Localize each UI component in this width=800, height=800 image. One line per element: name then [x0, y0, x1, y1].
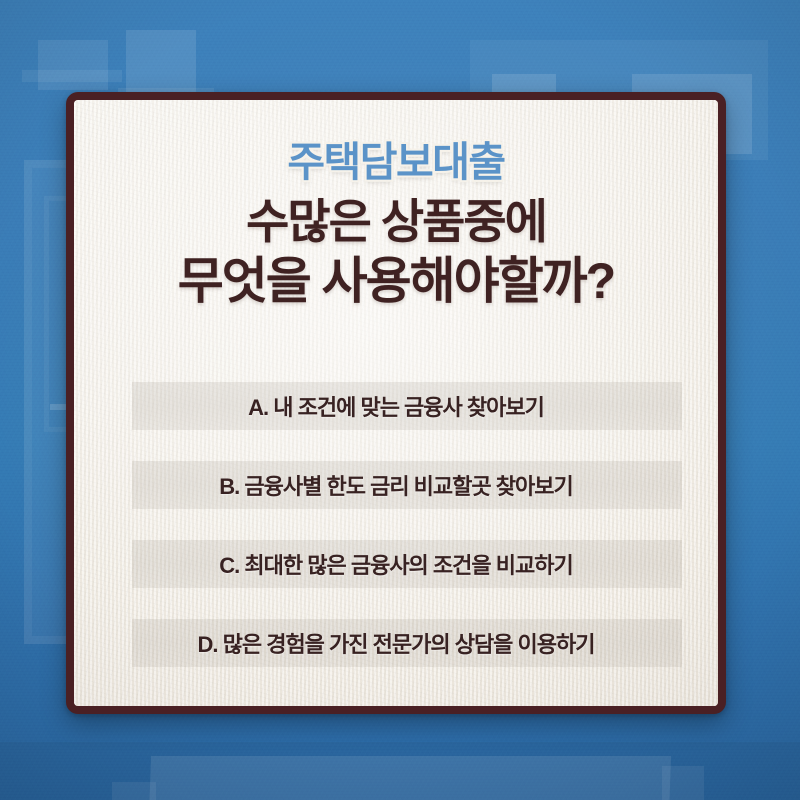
answer-option-label: A. 내 조건에 맞는 금융사 찾아보기 — [248, 390, 544, 422]
content-card: 주택담보대출 수많은 상품중에 무엇을 사용해야할까? A. 내 조건에 맞는 … — [66, 92, 726, 714]
headline-line-2: 무엇을 사용해야할까? — [74, 252, 718, 311]
answer-option-c[interactable]: C. 최대한 많은 금융사의 조건을 비교하기 — [74, 540, 718, 588]
headline-line-1: 수많은 상품중에 — [74, 195, 718, 250]
headline-group: 주택담보대출 수많은 상품중에 무엇을 사용해야할까? — [74, 142, 718, 310]
answer-option-list: A. 내 조건에 맞는 금융사 찾아보기 B. 금융사별 한도 금리 비교할곳 … — [74, 382, 718, 667]
answer-option-label: D. 많은 경험을 가진 전문가의 상담을 이용하기 — [198, 627, 595, 659]
answer-option-label: B. 금융사별 한도 금리 비교할곳 찾아보기 — [219, 469, 572, 501]
answer-option-label: C. 최대한 많은 금융사의 조건을 비교하기 — [219, 548, 572, 580]
answer-option-b[interactable]: B. 금융사별 한도 금리 비교할곳 찾아보기 — [74, 461, 718, 509]
headline-kicker: 주택담보대출 — [74, 142, 718, 183]
answer-option-a[interactable]: A. 내 조건에 맞는 금융사 찾아보기 — [74, 382, 718, 430]
answer-option-d[interactable]: D. 많은 경험을 가진 전문가의 상담을 이용하기 — [74, 619, 718, 667]
card-news-canvas: 주택담보대출 수많은 상품중에 무엇을 사용해야할까? A. 내 조건에 맞는 … — [0, 0, 800, 800]
